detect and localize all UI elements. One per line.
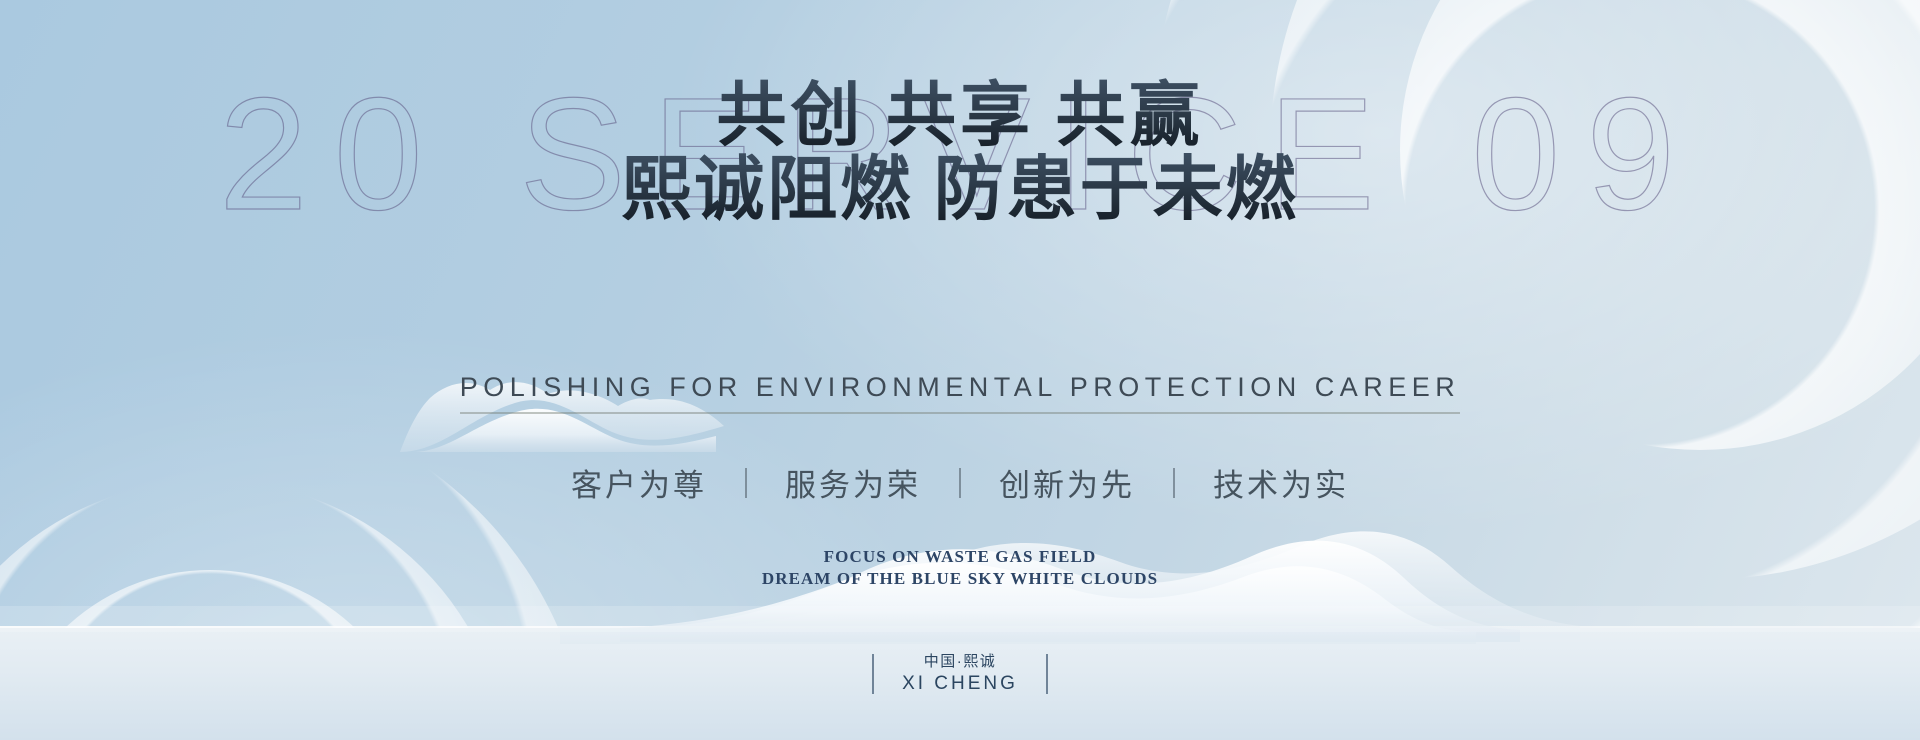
value-item-4: 技术为实 <box>1213 460 1349 505</box>
value-separator <box>745 468 747 498</box>
logo-text-group: 中国·熙诚 XI CHENG <box>902 651 1018 696</box>
logo-divider-left <box>872 654 874 694</box>
micro-tagline-line-2: DREAM OF THE BLUE SKY WHITE CLOUDS <box>0 568 1920 590</box>
value-item-3: 创新为先 <box>999 460 1135 505</box>
floor-edge-highlight <box>0 626 1920 628</box>
strapline-block: POLISHING FOR ENVIRONMENTAL PROTECTION C… <box>0 372 1920 414</box>
logo-name-cn: 中国·熙诚 <box>902 651 1018 672</box>
micro-tagline-block: FOCUS ON WASTE GAS FIELD DREAM OF THE BL… <box>0 546 1920 590</box>
banner-root: 20 SERVICE 09 <box>0 0 1920 740</box>
headline-line-2: 熙诚阻燃 防患于未燃 <box>0 152 1920 230</box>
cloud-shape-small-front <box>412 409 716 452</box>
value-item-2: 服务为荣 <box>785 460 921 505</box>
micro-tagline-line-1: FOCUS ON WASTE GAS FIELD <box>0 546 1920 568</box>
logo-lockup: 中国·熙诚 XI CHENG <box>0 651 1920 696</box>
headline-block: 共创 共享 共赢 熙诚阻燃 防患于未燃 <box>0 78 1920 230</box>
value-separator <box>959 468 961 498</box>
strapline-text: POLISHING FOR ENVIRONMENTAL PROTECTION C… <box>460 372 1461 414</box>
logo-divider-right <box>1046 654 1048 694</box>
values-row: 客户为尊 服务为荣 创新为先 技术为实 <box>0 460 1920 505</box>
value-item-1: 客户为尊 <box>571 460 707 505</box>
logo-name-en: XI CHENG <box>902 672 1018 696</box>
value-separator <box>1173 468 1175 498</box>
headline-line-1: 共创 共享 共赢 <box>0 78 1920 156</box>
